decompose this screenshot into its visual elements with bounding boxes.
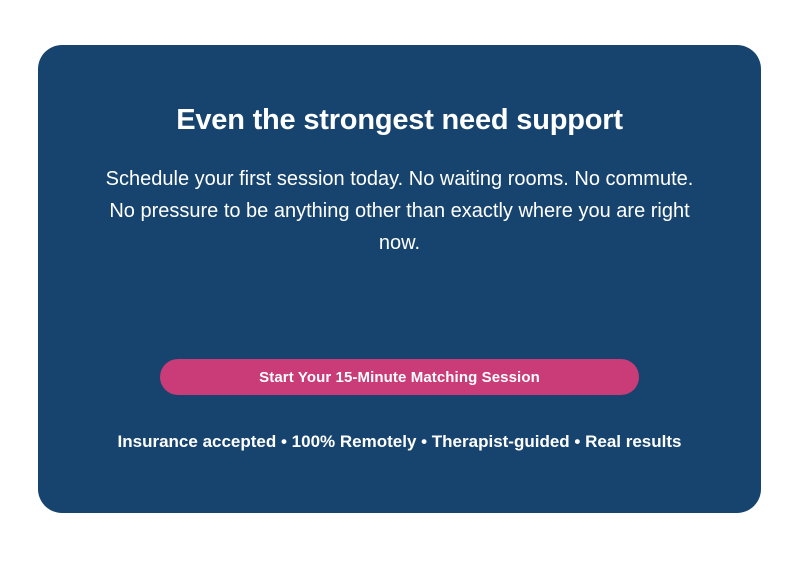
page-root: Even the strongest need support Schedule… [0, 0, 800, 562]
cta-footnote: Insurance accepted • 100% Remotely • The… [38, 431, 761, 453]
cta-button-container: Start Your 15-Minute Matching Session [38, 359, 761, 395]
cta-paragraph: Schedule your first session today. No wa… [93, 163, 707, 259]
start-matching-session-button[interactable]: Start Your 15-Minute Matching Session [160, 359, 639, 395]
cta-heading: Even the strongest need support [38, 103, 761, 137]
cta-card: Even the strongest need support Schedule… [38, 45, 761, 513]
